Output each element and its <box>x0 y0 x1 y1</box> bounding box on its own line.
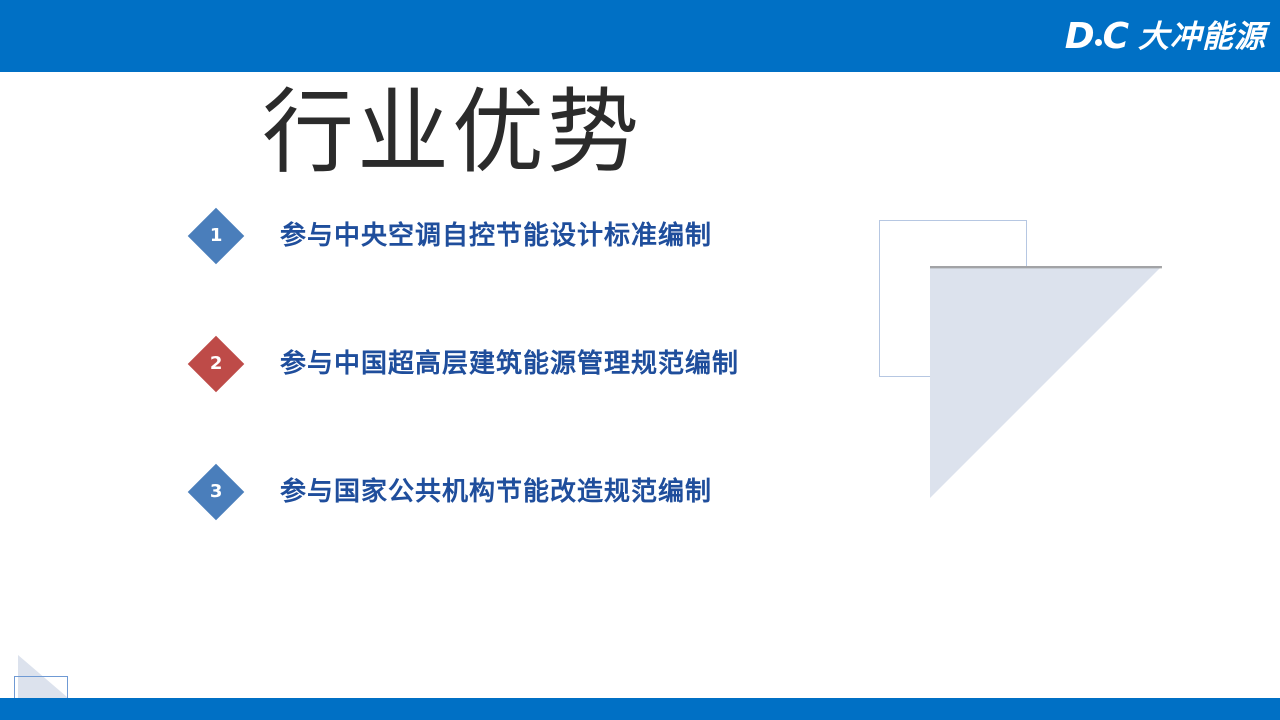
list-item: 2 参与中国超高层建筑能源管理规范编制 <box>196 340 836 468</box>
list-item: 1 参与中央空调自控节能设计标准编制 <box>196 212 836 340</box>
company-logo: D C 大冲能源 <box>1065 16 1266 58</box>
logo-company-name: 大冲能源 <box>1138 22 1266 53</box>
bottom-brand-bar <box>0 698 1280 720</box>
badge-number: 2 <box>210 355 223 373</box>
slide-canvas: D C 大冲能源 行业优势 1 参与中央空调自控节能设计标准编制 2 参与中国超… <box>0 0 1280 720</box>
list-item: 3 参与国家公共机构节能改造规范编制 <box>196 468 836 596</box>
badge-diamond-1: 1 <box>188 208 245 265</box>
top-brand-bar: D C 大冲能源 <box>0 0 1280 72</box>
badge-diamond-3: 3 <box>188 464 245 521</box>
logo-letter-c: C <box>1103 19 1128 55</box>
advantage-text-2: 参与中国超高层建筑能源管理规范编制 <box>280 345 739 383</box>
logo-dot-icon <box>1095 39 1102 46</box>
logo-monogram: D C <box>1065 19 1128 55</box>
advantage-text-3: 参与国家公共机构节能改造规范编制 <box>280 473 712 511</box>
badge-diamond-2: 2 <box>188 336 245 393</box>
badge-number: 3 <box>210 483 223 501</box>
logo-letter-d: D <box>1065 19 1094 55</box>
decor-triangle-right-icon <box>930 266 1162 498</box>
page-title: 行业优势 <box>262 82 642 183</box>
badge-number: 1 <box>210 227 223 245</box>
advantage-list: 1 参与中央空调自控节能设计标准编制 2 参与中国超高层建筑能源管理规范编制 3… <box>196 212 836 596</box>
advantage-text-1: 参与中央空调自控节能设计标准编制 <box>280 217 712 255</box>
